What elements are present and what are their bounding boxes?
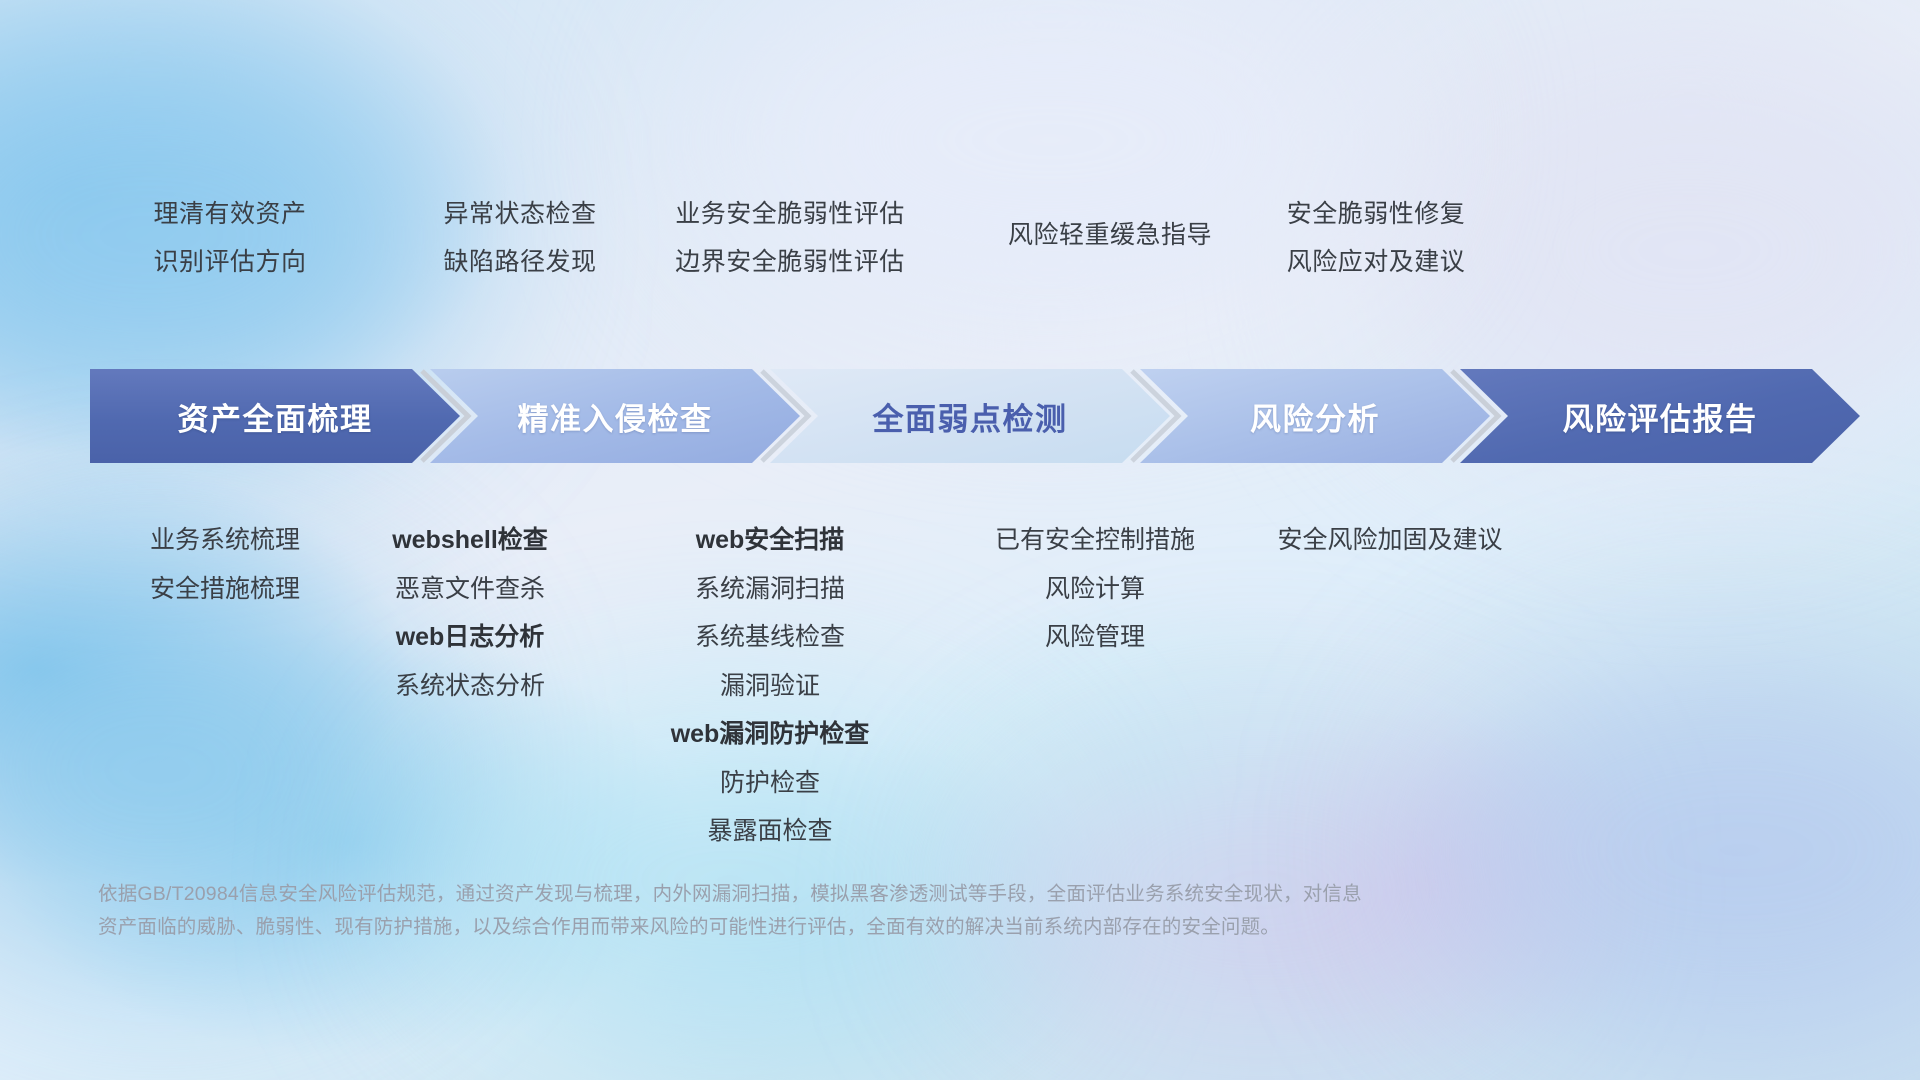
footer-line-2: 资产面临的威胁、脆弱性、现有防护措施，以及综合作用而带来风险的可能性进行评估，全… [98,911,1618,944]
list-item: 系统基线检查 [610,613,930,662]
chevron-stage-4[interactable]: 风险分析 [1140,369,1490,463]
chevron-stage-2[interactable]: 精准入侵检查 [430,369,800,463]
top-labels-stage-3: 业务安全脆弱性评估 边界安全脆弱性评估 [620,190,960,286]
footer-line-1: 依据GB/T20984信息安全风险评估规范，通过资产发现与梳理，内外网漏洞扫描，… [98,878,1618,911]
top-label-item: 边界安全脆弱性评估 [620,238,960,286]
top-label-item: 风险应对及建议 [1206,238,1546,286]
chevron-stage-3[interactable]: 全面弱点检测 [770,369,1170,463]
list-item: web漏洞防护检查 [610,710,930,759]
bottom-list-stage-4: 已有安全控制措施 风险计算 风险管理 [935,516,1255,662]
chevron-stage-4-label: 风险分析 [1250,394,1380,439]
bottom-list-stage-5: 安全风险加固及建议 [1220,516,1560,565]
chevron-stage-5[interactable]: 风险评估报告 [1460,369,1860,463]
chevron-stage-1[interactable]: 资产全面梳理 [90,369,460,463]
top-label-item: 理清有效资产 [80,190,380,238]
list-item: 系统漏洞扫描 [610,565,930,614]
top-label-item: 业务安全脆弱性评估 [620,190,960,238]
footer-description: 依据GB/T20984信息安全风险评估规范，通过资产发现与梳理，内外网漏洞扫描，… [98,878,1618,944]
process-chevron-bar: 资产全面梳理 精准入侵检查 [90,369,1860,463]
list-item: 系统状态分析 [320,662,620,711]
bottom-list-stage-2: webshell检查 恶意文件查杀 web日志分析 系统状态分析 [320,516,620,710]
top-labels-row: 理清有效资产 识别评估方向 异常状态检查 缺陷路径发现 业务安全脆弱性评估 边界… [0,0,1920,360]
top-label-item: 安全脆弱性修复 [1206,190,1546,238]
list-item: 恶意文件查杀 [320,565,620,614]
list-item: 暴露面检查 [610,807,930,856]
list-item: 防护检查 [610,759,930,808]
top-labels-stage-5: 安全脆弱性修复 风险应对及建议 [1206,190,1546,286]
list-item: 风险管理 [935,613,1255,662]
list-item: 安全风险加固及建议 [1220,516,1560,565]
list-item: 已有安全控制措施 [935,516,1255,565]
chevron-stage-5-label: 风险评估报告 [1563,394,1758,439]
bottom-lists-row: 业务系统梳理 安全措施梳理 webshell检查 恶意文件查杀 web日志分析 … [0,468,1920,828]
chevron-stage-2-label: 精准入侵检查 [518,394,713,439]
top-label-item: 识别评估方向 [80,238,380,286]
list-item: 风险计算 [935,565,1255,614]
bottom-list-stage-3: web安全扫描 系统漏洞扫描 系统基线检查 漏洞验证 web漏洞防护检查 防护检… [610,516,930,856]
diagram-canvas: 理清有效资产 识别评估方向 异常状态检查 缺陷路径发现 业务安全脆弱性评估 边界… [0,0,1920,1080]
list-item: webshell检查 [320,516,620,565]
list-item: 漏洞验证 [610,662,930,711]
chevron-stage-3-label: 全面弱点检测 [873,394,1068,439]
top-labels-stage-1: 理清有效资产 识别评估方向 [80,190,380,286]
list-item: web日志分析 [320,613,620,662]
list-item: web安全扫描 [610,516,930,565]
chevron-stage-1-label: 资产全面梳理 [178,394,373,439]
